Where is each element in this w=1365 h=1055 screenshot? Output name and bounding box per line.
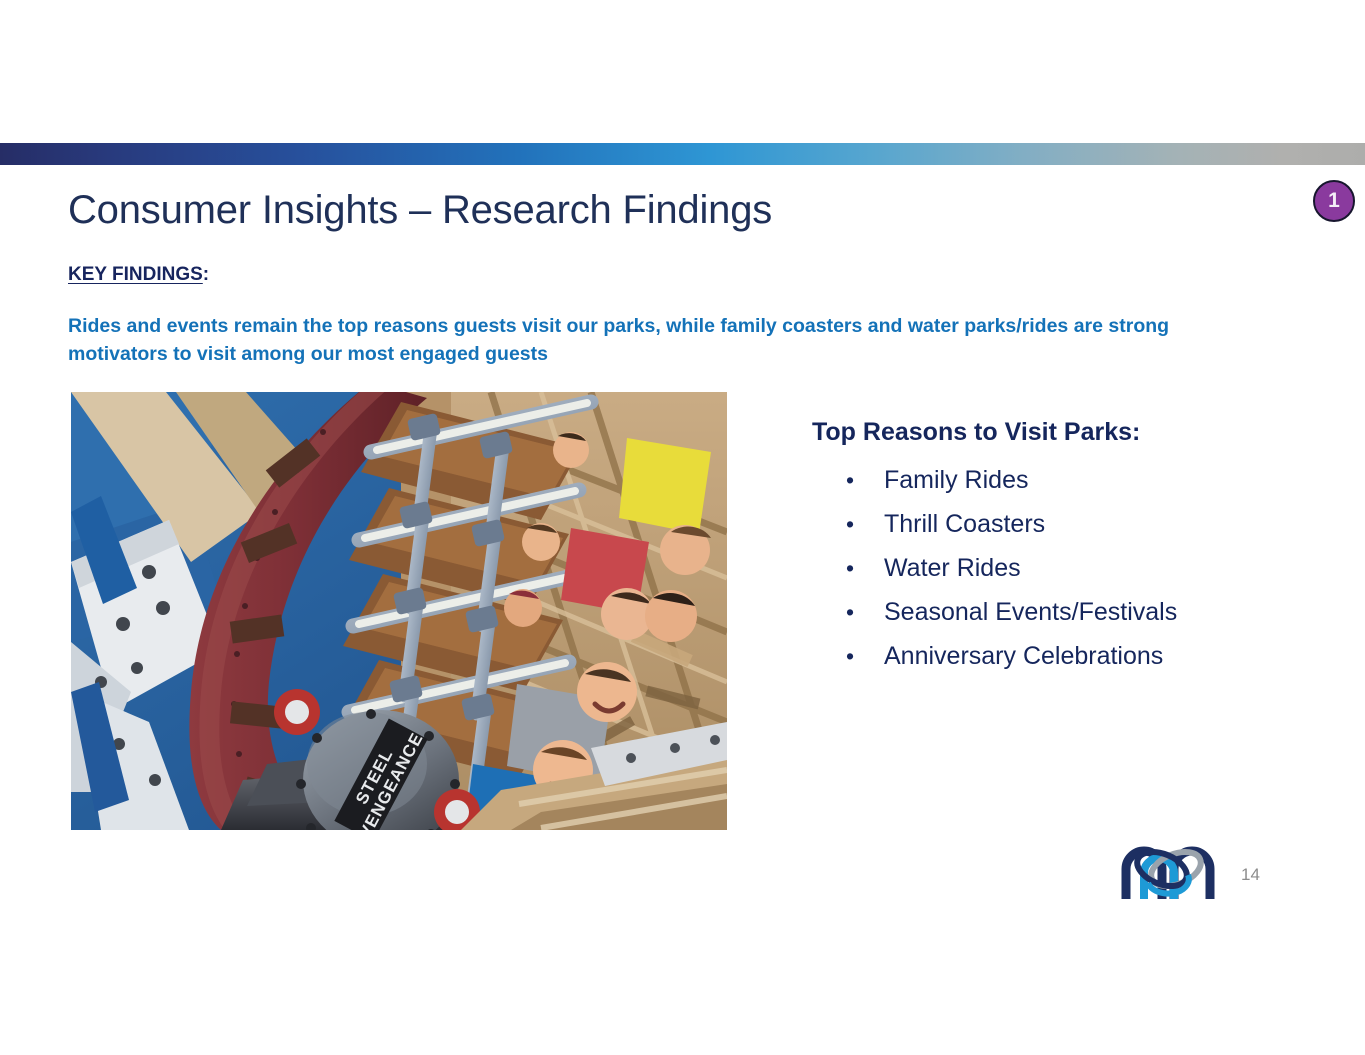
list-item-label: Anniversary Celebrations [884, 644, 1163, 669]
key-findings-label-colon: : [203, 264, 209, 285]
gradient-divider [0, 143, 1365, 165]
bullet-icon: • [846, 469, 884, 492]
list-item-label: Water Rides [884, 556, 1021, 581]
reasons-heading: Top Reasons to Visit Parks: [812, 418, 1140, 447]
list-item: • Anniversary Celebrations [846, 644, 1177, 688]
list-item-label: Thrill Coasters [884, 512, 1045, 537]
bullet-icon: • [846, 557, 884, 580]
list-item: • Seasonal Events/Festivals [846, 600, 1177, 644]
coaster-loop-logo [1118, 843, 1228, 901]
roller-coaster-photo-artwork: STEEL VENGEANCE [71, 392, 727, 830]
key-findings-body: Rides and events remain the top reasons … [68, 312, 1253, 369]
bullet-icon: • [846, 645, 884, 668]
step-badge: 1 [1313, 180, 1355, 222]
step-badge-number: 1 [1328, 189, 1340, 213]
roller-coaster-photo: STEEL VENGEANCE [71, 392, 727, 830]
bullet-icon: • [846, 513, 884, 536]
list-item: • Water Rides [846, 556, 1177, 600]
coaster-loop-logo-artwork [1118, 843, 1228, 901]
list-item: • Family Rides [846, 468, 1177, 512]
slide-canvas: Consumer Insights – Research Findings 1 … [0, 0, 1365, 1055]
bullet-icon: • [846, 601, 884, 624]
key-findings-label-text: KEY FINDINGS [68, 264, 203, 285]
list-item-label: Seasonal Events/Festivals [884, 600, 1177, 625]
key-findings-label: KEY FINDINGS: [68, 264, 209, 286]
list-item-label: Family Rides [884, 468, 1028, 493]
reasons-list: • Family Rides • Thrill Coasters • Water… [846, 468, 1177, 688]
page-number: 14 [1241, 865, 1260, 885]
page-title: Consumer Insights – Research Findings [68, 188, 772, 233]
list-item: • Thrill Coasters [846, 512, 1177, 556]
